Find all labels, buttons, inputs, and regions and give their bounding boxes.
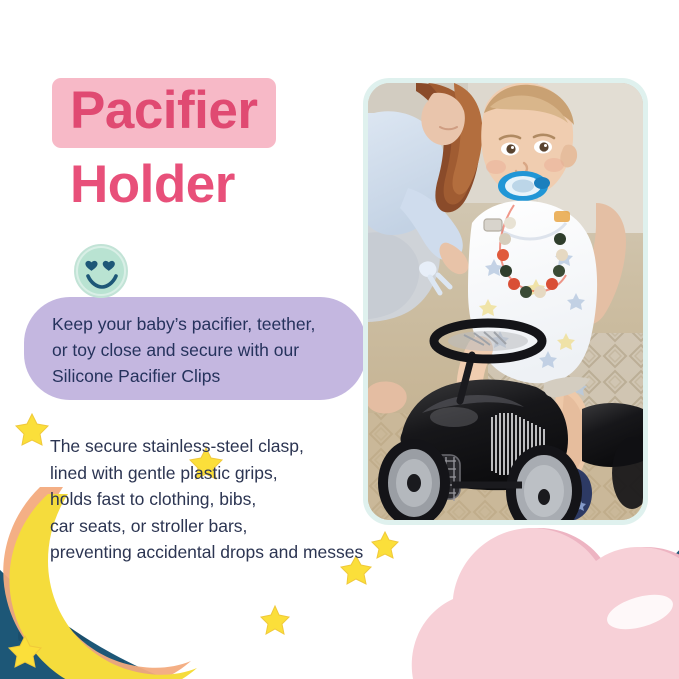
body-line: The secure stainless-steel clasp,: [50, 433, 380, 460]
product-photo-frame: [363, 78, 648, 525]
body-line: lined with gentle plastic grips,: [50, 460, 380, 487]
body-line: car seats, or stroller bars,: [50, 513, 380, 540]
callout-line: Keep your baby’s pacifier, teether,: [52, 311, 372, 337]
callout-line: Silicone Pacifier Clips: [52, 363, 372, 389]
body-description: The secure stainless-steel clasp, lined …: [50, 433, 380, 566]
callout-card: Keep your baby’s pacifier, teether, or t…: [24, 297, 366, 400]
infographic-canvas: Pacifier Holder Keep your baby’s pacifie…: [0, 0, 679, 679]
body-line: preventing accidental drops and messes: [50, 539, 380, 566]
callout-text: Keep your baby’s pacifier, teether, or t…: [52, 311, 372, 389]
body-line: holds fast to clothing, bibs,: [50, 486, 380, 513]
star: [261, 606, 289, 634]
star: [16, 414, 48, 445]
heart-eyes-smiley-icon: [73, 243, 129, 299]
product-photo: [368, 83, 643, 520]
callout-line: or toy close and secure with our: [52, 337, 372, 363]
